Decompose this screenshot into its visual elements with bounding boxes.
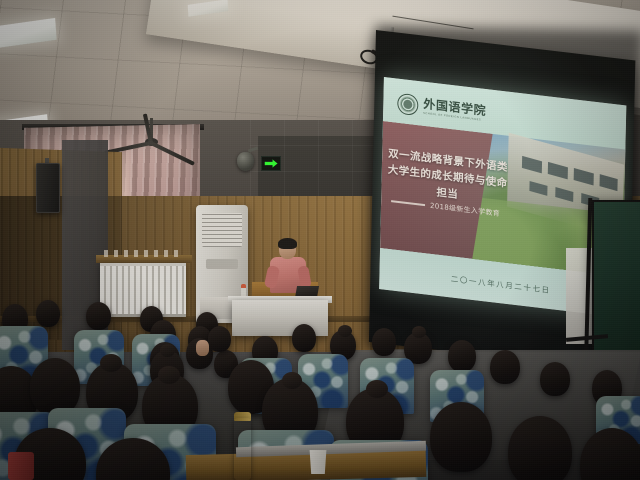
audience-head <box>430 402 492 472</box>
hair-bun <box>100 354 122 372</box>
dome-security-camera-icon <box>237 152 254 171</box>
audience-head <box>372 328 396 356</box>
hair-bun <box>158 366 180 384</box>
red-cup <box>8 452 34 480</box>
shelf-items <box>104 250 182 257</box>
audience-head <box>448 340 476 372</box>
audience-face <box>196 340 209 356</box>
wall-speaker <box>36 163 60 213</box>
hair-bun <box>282 372 302 389</box>
air-conditioner-vent <box>202 213 242 247</box>
hair-bun <box>366 380 388 398</box>
audience-head <box>208 326 231 352</box>
paper-cup <box>308 450 328 474</box>
air-conditioner-control-panel <box>206 259 238 269</box>
presenter-hair <box>278 238 297 249</box>
hair-bun <box>160 344 175 357</box>
audience-head <box>508 416 572 480</box>
audience-head <box>540 362 570 396</box>
exit-sign <box>261 156 281 171</box>
university-seal-icon <box>397 93 418 116</box>
audience-head <box>580 428 640 480</box>
running-man-arrow-icon <box>265 159 278 168</box>
audience-head <box>292 324 316 352</box>
hair-bun <box>338 325 352 337</box>
lecture-hall-photo: 外国语学院 SCHOOL OF FOREIGN LANGUAGES 双一流战略背… <box>0 0 640 480</box>
gold-thermos <box>234 418 251 480</box>
subtitle-rule <box>391 200 425 205</box>
audience-head <box>86 302 111 330</box>
audience-head <box>490 350 520 384</box>
audience-head <box>36 300 60 327</box>
hair-bun <box>412 326 426 338</box>
